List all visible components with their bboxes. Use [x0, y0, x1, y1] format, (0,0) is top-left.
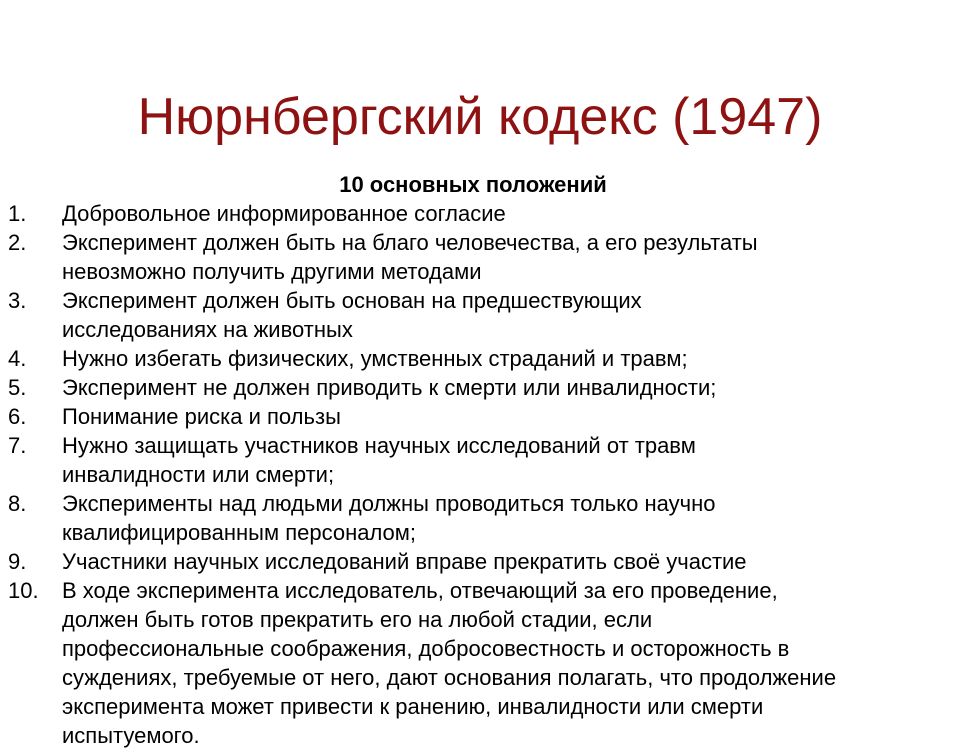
page-title: Нюрнбергский кодекс (1947) [0, 87, 960, 147]
principles-list: 1. Добровольное информированное согласие… [0, 199, 960, 750]
list-item-number: 7. [8, 431, 56, 460]
list-item: 5. Эксперимент не должен приводить к сме… [0, 373, 960, 402]
list-item-text: Эксперимент должен быть основан на предш… [62, 286, 960, 344]
list-item-text: Эксперимент не должен приводить к смерти… [62, 373, 960, 402]
list-item-text: Нужно избегать физических, умственных ст… [62, 344, 960, 373]
list-item: 8. Эксперименты над людьми должны провод… [0, 489, 960, 547]
list-item-number: 8. [8, 489, 56, 518]
list-item-number: 5. [8, 373, 56, 402]
list-item-text: Добровольное информированное согласие [62, 199, 960, 228]
list-item: 10. В ходе эксперимента исследователь, о… [0, 576, 960, 750]
list-item: 1. Добровольное информированное согласие [0, 199, 960, 228]
list-item-text: Нужно защищать участников научных исслед… [62, 431, 960, 489]
list-item-number: 10. [8, 576, 56, 605]
list-item: 3. Эксперимент должен быть основан на пр… [0, 286, 960, 344]
slide-body: 10 основных положений 1. Добровольное ин… [0, 170, 960, 750]
list-item-number: 1. [8, 199, 56, 228]
list-item-text: Понимание риска и пользы [62, 402, 960, 431]
list-item: 9. Участники научных исследований вправе… [0, 547, 960, 576]
list-item-number: 9. [8, 547, 56, 576]
list-item: 6. Понимание риска и пользы [0, 402, 960, 431]
list-item-number: 4. [8, 344, 56, 373]
list-item-text: Участники научных исследований вправе пр… [62, 547, 960, 576]
list-item: 2. Эксперимент должен быть на благо чело… [0, 228, 960, 286]
list-item-number: 6. [8, 402, 56, 431]
slide-canvas: Нюрнбергский кодекс (1947) 10 основных п… [0, 0, 960, 720]
section-heading: 10 основных положений [0, 170, 960, 199]
list-item-text: Эксперимент должен быть на благо человеч… [62, 228, 960, 286]
list-item-text: В ходе эксперимента исследователь, отвеч… [62, 576, 960, 750]
list-item: 4. Нужно избегать физических, умственных… [0, 344, 960, 373]
list-item-number: 3. [8, 286, 56, 315]
list-item-number: 2. [8, 228, 56, 257]
list-item-text: Эксперименты над людьми должны проводить… [62, 489, 960, 547]
list-item: 7. Нужно защищать участников научных исс… [0, 431, 960, 489]
